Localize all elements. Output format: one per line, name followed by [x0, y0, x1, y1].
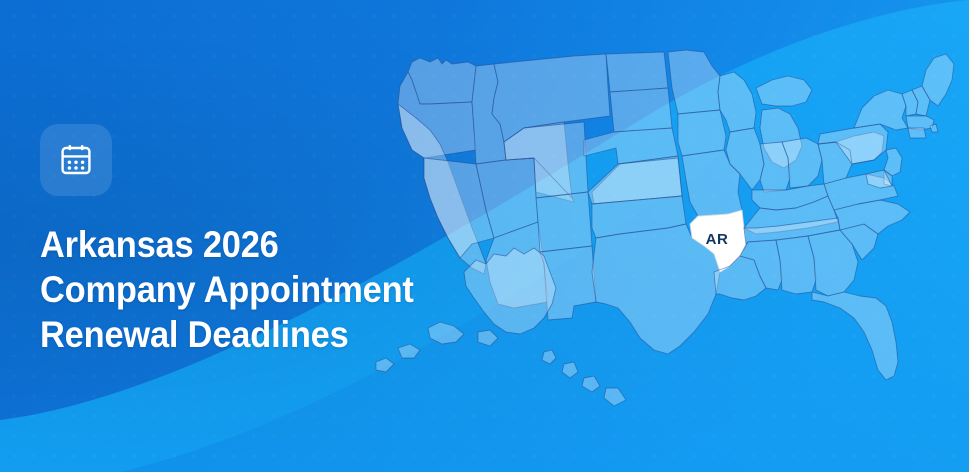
banner-root: AR — [0, 0, 969, 472]
icon-tile — [40, 124, 112, 196]
calendar-icon — [58, 142, 94, 178]
page-title: Arkansas 2026 Company Appointment Renewa… — [40, 196, 440, 357]
page-title-line-3: Renewal Deadlines — [40, 312, 440, 357]
map-label-AR: AR — [706, 231, 729, 248]
page-title-line-1: Arkansas 2026 — [40, 222, 440, 267]
page-title-line-2: Company Appointment — [40, 267, 440, 312]
banner-content: Arkansas 2026 Company Appointment Renewa… — [40, 124, 470, 357]
